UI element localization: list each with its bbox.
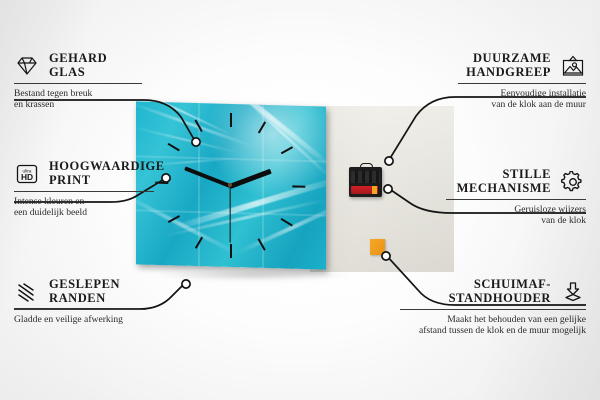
framed-picture-icon bbox=[560, 55, 586, 77]
clock-tick bbox=[292, 185, 305, 187]
feature-hoogwaardige-print: ultra HD HOOGWAARDIGEPRINT Intense kleur… bbox=[14, 160, 154, 219]
feature-stille-mechanisme: STILLEMECHANISME Geruisloze wijzers van … bbox=[446, 168, 586, 227]
clock-tick bbox=[281, 218, 293, 226]
product-shadow bbox=[140, 272, 420, 286]
feature-title: GESLEPENRANDEN bbox=[49, 278, 120, 305]
title-line-2: HANDGREEP bbox=[466, 65, 551, 79]
feature-title: SCHUIMAF-STANDHOUDER bbox=[449, 278, 551, 305]
clock-tick bbox=[281, 146, 293, 154]
title-line-1: GESLEPEN bbox=[49, 277, 120, 291]
feature-header: SCHUIMAF-STANDHOUDER bbox=[400, 278, 586, 305]
title-line-1: GEHARD bbox=[49, 51, 107, 65]
feature-description: Eenvoudige installatie van de klok aan d… bbox=[458, 88, 586, 111]
title-line-1: SCHUIMAF- bbox=[474, 277, 551, 291]
product-photo bbox=[136, 104, 354, 274]
feature-description: Bestand tegen breuk en krassen bbox=[14, 88, 142, 111]
title-line-2: RANDEN bbox=[49, 291, 106, 305]
diamond-icon bbox=[14, 55, 40, 77]
clock-tick bbox=[230, 244, 232, 258]
feature-header: GEHARDGLAS bbox=[14, 52, 142, 79]
feature-description: Maakt het behouden van een gelijke afsta… bbox=[400, 314, 586, 337]
divider bbox=[400, 309, 586, 310]
feature-gehard-glas: GEHARDGLAS Bestand tegen breuk en krasse… bbox=[14, 52, 142, 111]
feature-header: GESLEPENRANDEN bbox=[14, 278, 146, 305]
feature-geslepen-randen: GESLEPENRANDEN Gladde en veilige afwerki… bbox=[14, 278, 146, 325]
product-infographic: GEHARDGLAS Bestand tegen breuk en krasse… bbox=[0, 0, 600, 400]
down-arrow-stack-icon bbox=[560, 281, 586, 303]
diagonal-stripes-icon bbox=[14, 281, 40, 303]
title-line-1: DUURZAME bbox=[473, 51, 551, 65]
gear-icon bbox=[560, 171, 586, 193]
second-hand bbox=[229, 186, 230, 242]
feature-title: DUURZAMEHANDGREEP bbox=[466, 52, 551, 79]
feature-header: ultra HD HOOGWAARDIGEPRINT bbox=[14, 160, 154, 187]
title-line-1: HOOGWAARDIGE bbox=[49, 159, 165, 173]
divider bbox=[14, 83, 142, 84]
feature-header: STILLEMECHANISME bbox=[446, 168, 586, 195]
feature-schuimaf-standhouder: SCHUIMAF-STANDHOUDER Maakt het behouden … bbox=[400, 278, 586, 337]
clock-mechanism bbox=[349, 167, 382, 197]
title-line-2: MECHANISME bbox=[457, 181, 551, 195]
clock-center-pin bbox=[228, 183, 232, 187]
feature-title: GEHARDGLAS bbox=[49, 52, 107, 79]
clock-tick bbox=[230, 113, 232, 127]
title-line-2: GLAS bbox=[49, 65, 85, 79]
divider bbox=[446, 199, 586, 200]
title-line-1: STILLE bbox=[503, 167, 551, 181]
feature-title: HOOGWAARDIGEPRINT bbox=[49, 160, 165, 187]
mechanism-housing bbox=[351, 171, 380, 183]
hanger-loop-icon bbox=[360, 163, 373, 170]
battery bbox=[351, 186, 378, 194]
feature-description: Intense kleuren en een duidelijk beeld bbox=[14, 196, 154, 219]
feature-duurzame-handgreep: DUURZAMEHANDGREEP Eenvoudige installatie… bbox=[458, 52, 586, 111]
feature-header: DUURZAMEHANDGREEP bbox=[458, 52, 586, 79]
title-line-2: PRINT bbox=[49, 173, 91, 187]
divider bbox=[14, 309, 146, 310]
divider bbox=[14, 191, 154, 192]
feature-title: STILLEMECHANISME bbox=[457, 168, 551, 195]
feature-description: Geruisloze wijzers van de klok bbox=[446, 204, 586, 227]
ultra-hd-icon: ultra HD bbox=[14, 163, 40, 185]
minute-hand bbox=[184, 166, 230, 187]
feature-description: Gladde en veilige afwerking bbox=[14, 314, 146, 325]
title-line-2: STANDHOUDER bbox=[449, 291, 551, 305]
battery-terminal bbox=[372, 186, 377, 194]
divider bbox=[458, 83, 586, 84]
clock-tick bbox=[168, 143, 180, 151]
hour-hand bbox=[229, 169, 272, 189]
svg-text:HD: HD bbox=[21, 172, 33, 182]
foam-spacer bbox=[370, 239, 385, 255]
